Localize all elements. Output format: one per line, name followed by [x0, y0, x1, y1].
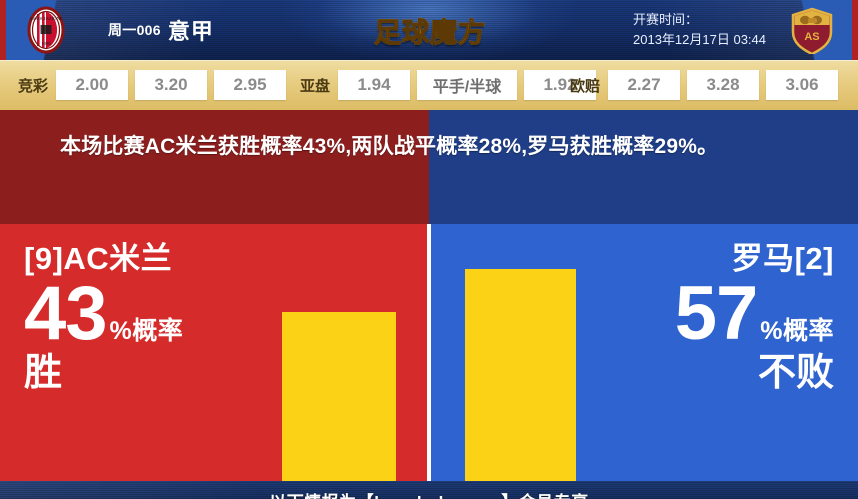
odds-group-label: 欧赔: [570, 75, 600, 96]
odds-cell[interactable]: 1.94: [338, 70, 410, 100]
kickoff-time: 开赛时间： 2013年12月17日 03:44: [633, 0, 766, 60]
match-round: 周一006: [108, 20, 161, 40]
odds-bar: 竞彩 2.00 3.20 2.95 亚盘 1.94 平手/半球 1.92 欧赔 …: [0, 60, 858, 110]
probability-panels: [9]AC米兰 43 %概率 胜 罗马[2] 57 %概率 不败: [0, 224, 858, 481]
summary-band-left-half: [0, 110, 429, 224]
ac-milan-crest-icon: ASSOCIAZIONE 1899: [22, 6, 70, 54]
header-edge-left: [0, 0, 6, 60]
summary-band: 本场比赛AC米兰获胜概率43%,两队战平概率28%,罗马获胜概率29%。: [0, 110, 858, 224]
panel-divider: [427, 224, 431, 481]
kickoff-value: 2013年12月17日 03:44: [633, 30, 766, 50]
away-percent-row: 57 %概率: [675, 278, 834, 350]
as-roma-crest-icon: AS: [788, 6, 836, 54]
brand-logo: 足球魔方: [345, 4, 515, 56]
home-percent-value: 43: [24, 278, 107, 350]
odds-cell[interactable]: 2.27: [608, 70, 680, 100]
home-percent-suffix: %概率: [110, 311, 184, 347]
svg-text:AS: AS: [804, 31, 819, 43]
odds-group-asian-handicap: 亚盘 1.94 平手/半球 1.92: [300, 70, 596, 100]
odds-cell[interactable]: 2.00: [56, 70, 128, 100]
summary-band-right-half: [429, 110, 858, 224]
away-verdict: 不败: [675, 354, 834, 394]
svg-text:ASSOCIAZIONE: ASSOCIAZIONE: [29, 16, 63, 21]
odds-cell[interactable]: 3.06: [766, 70, 838, 100]
svg-text:1899: 1899: [41, 41, 51, 46]
footer-text: 以下情报为【huanhuba.com】会员专享: [269, 488, 588, 499]
odds-cell-handicap[interactable]: 平手/半球: [417, 70, 517, 100]
odds-group-jingcai: 竞彩 2.00 3.20 2.95: [18, 70, 286, 100]
summary-text: 本场比赛AC米兰获胜概率43%,两队战平概率28%,罗马获胜概率29%。: [60, 132, 800, 162]
odds-cell[interactable]: 3.28: [687, 70, 759, 100]
brand-logo-text: 足球魔方: [374, 11, 486, 50]
away-probability-bar: [465, 269, 576, 481]
away-percent-suffix: %概率: [760, 311, 834, 347]
odds-group-label: 竞彩: [18, 75, 48, 96]
home-percent-row: 43 %概率: [24, 278, 183, 350]
match-title: 周一006 意甲: [108, 0, 214, 60]
match-league: 意甲: [168, 14, 214, 46]
away-percent-value: 57: [675, 278, 758, 350]
odds-cell[interactable]: 3.20: [135, 70, 207, 100]
match-prediction-infographic: ASSOCIAZIONE 1899 AS 周一006 意甲 足球魔方 开赛时间：…: [0, 0, 858, 499]
home-probability-bar: [282, 312, 396, 481]
home-verdict: 胜: [24, 354, 183, 394]
odds-group-european: 欧赔 2.27 3.28 3.06: [570, 70, 838, 100]
home-team-panel: [9]AC米兰 43 %概率 胜: [0, 224, 429, 481]
footer-bar: 以下情报为【huanhuba.com】会员专享: [0, 481, 858, 499]
header-bar: ASSOCIAZIONE 1899 AS 周一006 意甲 足球魔方 开赛时间：…: [0, 0, 858, 60]
odds-group-label: 亚盘: [300, 75, 330, 96]
home-team-block: [9]AC米兰 43 %概率 胜: [24, 242, 183, 394]
away-team-block: 罗马[2] 57 %概率 不败: [675, 242, 834, 394]
away-team-panel: 罗马[2] 57 %概率 不败: [429, 224, 858, 481]
odds-cell[interactable]: 2.95: [214, 70, 286, 100]
header-edge-right: [852, 0, 858, 60]
kickoff-label: 开赛时间：: [633, 10, 698, 30]
